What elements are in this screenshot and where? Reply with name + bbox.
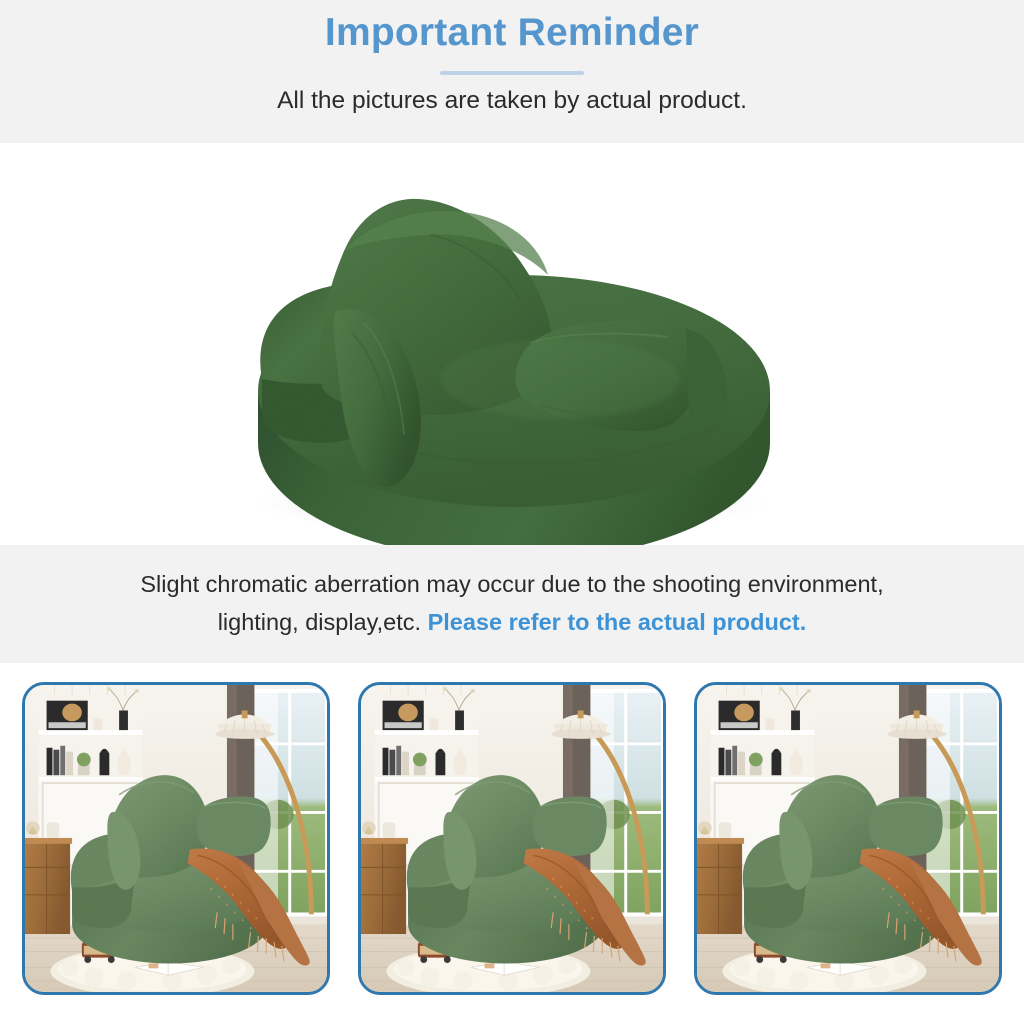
living-room-scene-2 — [361, 685, 663, 992]
header-band: Important Reminder All the pictures are … — [0, 0, 1024, 143]
disclaimer-line-2: lighting, display,etc. Please refer to t… — [218, 604, 807, 642]
living-room-scene-1 — [25, 685, 327, 992]
disclaimer-line-1: Slight chromatic aberration may occur du… — [140, 566, 883, 604]
title-divider — [440, 71, 584, 75]
thumbnail-3[interactable] — [694, 682, 1002, 995]
living-room-scene-3 — [697, 685, 999, 992]
green-swivel-chair-illustration — [0, 143, 1024, 545]
page-title: Important Reminder — [325, 8, 699, 59]
thumbnail-2[interactable] — [358, 682, 666, 995]
header-subtitle: All the pictures are taken by actual pro… — [277, 87, 747, 115]
disclaimer-band: Slight chromatic aberration may occur du… — [0, 545, 1024, 663]
disclaimer-line-2-plain: lighting, display,etc. — [218, 609, 428, 635]
seat-highlight — [440, 339, 680, 419]
disclaimer-accent-text: Please refer to the actual product. — [428, 609, 807, 635]
hero-product-image — [0, 143, 1024, 545]
thumbnail-strip — [22, 682, 1002, 995]
thumbnail-1[interactable] — [22, 682, 330, 995]
